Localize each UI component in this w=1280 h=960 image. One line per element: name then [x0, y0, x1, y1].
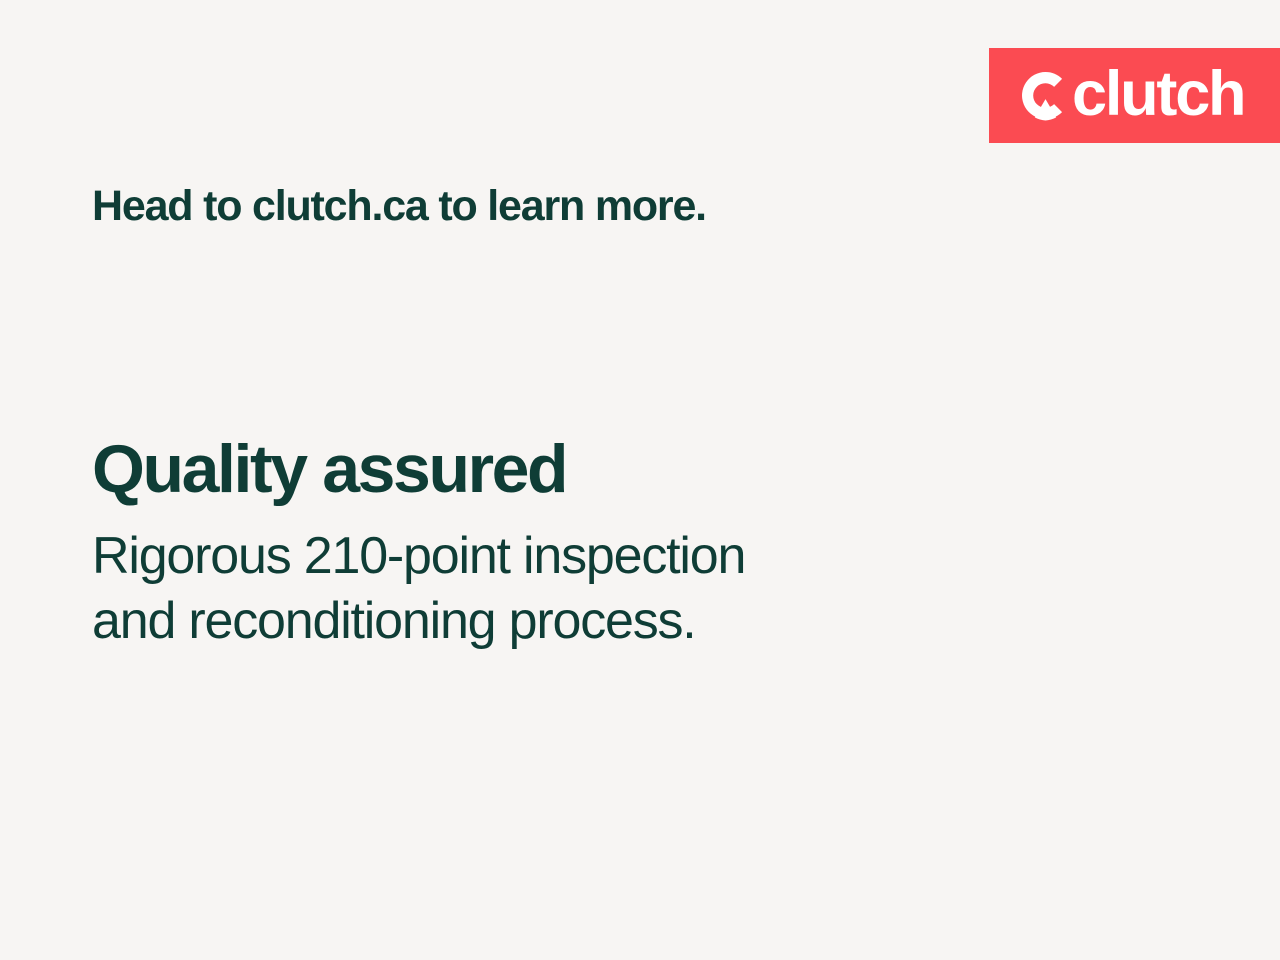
feature-description-line: and reconditioning process. — [92, 589, 992, 653]
cta-headline: Head to clutch.ca to learn more. — [92, 182, 706, 231]
clutch-c-mark-icon — [1020, 70, 1071, 121]
clutch-wordmark: clutch — [1020, 65, 1244, 126]
clutch-wordmark-text: clutch — [1072, 63, 1244, 126]
clutch-logo-block[interactable]: clutch — [989, 48, 1280, 143]
feature-description-line: Rigorous 210-point inspection — [92, 524, 992, 588]
feature-title: Quality assured — [92, 434, 992, 505]
feature-block: Quality assured Rigorous 210-point inspe… — [92, 434, 992, 653]
feature-description: Rigorous 210-point inspection and recond… — [92, 524, 992, 653]
